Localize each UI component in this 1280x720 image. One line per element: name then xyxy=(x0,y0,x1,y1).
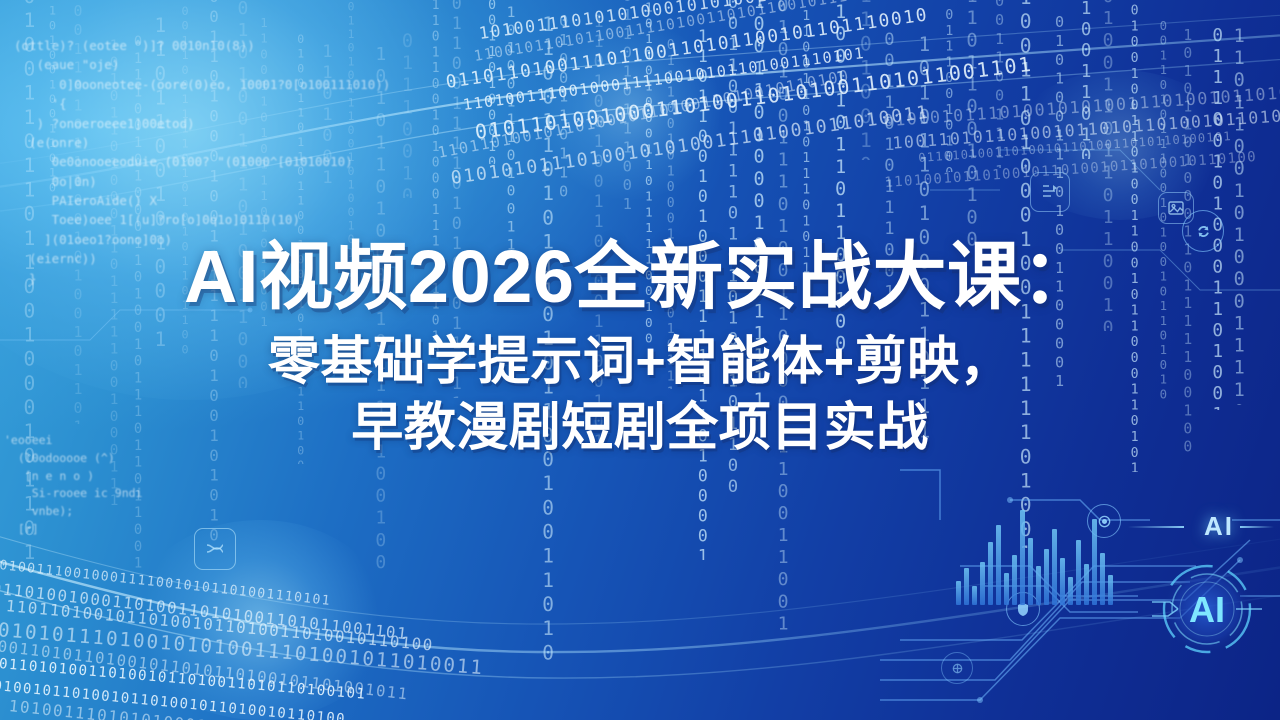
chart-bar xyxy=(1060,558,1065,606)
binary-column: 10011010001001111110100101010011 xyxy=(483,0,500,164)
binary-row: 11010010110100101101001011010010110100 xyxy=(884,149,1258,191)
binary-column: 11010010011010011001011000110101 xyxy=(44,0,59,192)
photo-icon xyxy=(1158,192,1194,224)
wave-top xyxy=(0,0,1280,250)
ai-label-lead-left xyxy=(1128,526,1184,528)
chart-bar xyxy=(996,525,1001,605)
binary-row: 100110101101001011010110100101101001011 xyxy=(892,102,1280,152)
binary-row: 110110100101101001011010011010010110100 xyxy=(437,66,852,161)
chart-bar xyxy=(1044,549,1049,605)
binary-row: 0110101001101001011010011010110100101 xyxy=(918,129,1232,165)
binary-column: 110100100110100110010110 xyxy=(853,0,878,160)
binary-row: 0110101001101001011010011010110100101 xyxy=(0,656,367,703)
chart-bar xyxy=(1028,538,1033,605)
chart-bar xyxy=(964,568,969,605)
glow-bottomleft xyxy=(130,520,390,720)
chart-bar xyxy=(1100,553,1105,605)
chart-bar xyxy=(956,581,961,605)
ai-text-label: AI xyxy=(1204,511,1234,542)
binary-row: 0101101001000110100110101001101011001101 xyxy=(474,52,1034,144)
binary-row: 01010101110100101010011101001011010011 xyxy=(0,616,485,679)
ai-emblem-label: AI xyxy=(1189,589,1225,630)
binary-column: 010011011011001000101101 xyxy=(553,12,573,198)
chart-list-icon xyxy=(1030,172,1070,212)
binary-column: 110110010100011110110100 xyxy=(960,0,984,248)
chart-bar xyxy=(988,542,993,605)
page-title: AI视频2026全新实战大课： xyxy=(0,238,1280,316)
binary-row: 1100101101011001111010011010110010111001 xyxy=(473,0,880,65)
chart-bar xyxy=(1108,575,1113,605)
chart-bar xyxy=(1020,510,1025,605)
binary-row: 0101101001000110100110101001101011001101 xyxy=(0,576,409,643)
banner-image: 0100110110110010001011011101001001101001… xyxy=(0,0,1280,720)
ai-emblem: AI xyxy=(1152,554,1262,664)
binary-row: 101001110101010001010100111010101001110 xyxy=(8,696,440,720)
binary-column: 1100110101110101100100110100110110110010 xyxy=(1075,0,1097,159)
subtitle-line-1: 零基础学提示词+智能体+剪映， xyxy=(0,330,1280,396)
headline-block: AI视频2026全新实战大课： 零基础学提示词+智能体+剪映， 早教漫剧短剧全项… xyxy=(0,238,1280,461)
binary-row: 11010011100100011110010101101001110101 xyxy=(0,556,331,609)
chart-bar xyxy=(1012,555,1017,605)
chart-bar xyxy=(1004,573,1009,605)
node-circle-icon xyxy=(941,652,973,684)
chart-bar xyxy=(1084,564,1089,605)
ai-label-lead-right xyxy=(1240,526,1274,528)
subtitle-line-2: 早教漫剧短剧全项目实战 xyxy=(0,396,1280,462)
binary-column: 0011010111001010010110101010110100011011… xyxy=(616,0,636,217)
binary-row: 011011010011101100110101100101101110010 xyxy=(444,4,929,93)
chart-bar xyxy=(1092,519,1097,605)
chart-bar xyxy=(1052,529,1057,605)
binary-column: 0011001111010101011011001001101000100111… xyxy=(989,0,1008,168)
binary-row: 101001110101010001010100111010101001110 xyxy=(478,0,931,43)
binary-row: 110110100101101001011010011010010110100 xyxy=(5,596,434,655)
binary-column: 011100101000110100101110 xyxy=(941,8,958,172)
chart-bar xyxy=(1068,577,1073,605)
chart-bar xyxy=(980,562,985,605)
binary-column: 01110010100011010010111011011001 xyxy=(395,31,419,199)
ai-text-label-value: AI xyxy=(1204,511,1234,541)
binary-row: 01010101110100101010011101001011010011 xyxy=(883,81,1280,131)
binary-column: 0101001110100110000111001100110101110101 xyxy=(501,0,520,259)
glow-wavecrest xyxy=(1010,70,1230,220)
binary-row: 100110101101001011010110100101101001011 xyxy=(0,636,409,703)
binary-column: 1101001001101001100101100011010111001010… xyxy=(316,42,338,183)
chart-bar xyxy=(1036,566,1041,605)
binary-row: 11010011100100011110010101101001110101 xyxy=(462,44,866,114)
binary-row: 01010101110100101010011101001011010011 xyxy=(449,102,930,189)
waveform-icon xyxy=(194,528,236,570)
glow-center xyxy=(540,20,720,200)
chart-bar xyxy=(972,586,977,605)
chart-bar xyxy=(1076,540,1081,605)
decorative-bar-chart xyxy=(955,510,1115,605)
binary-row: 11010010110100101101001011010010110100 xyxy=(0,676,347,720)
